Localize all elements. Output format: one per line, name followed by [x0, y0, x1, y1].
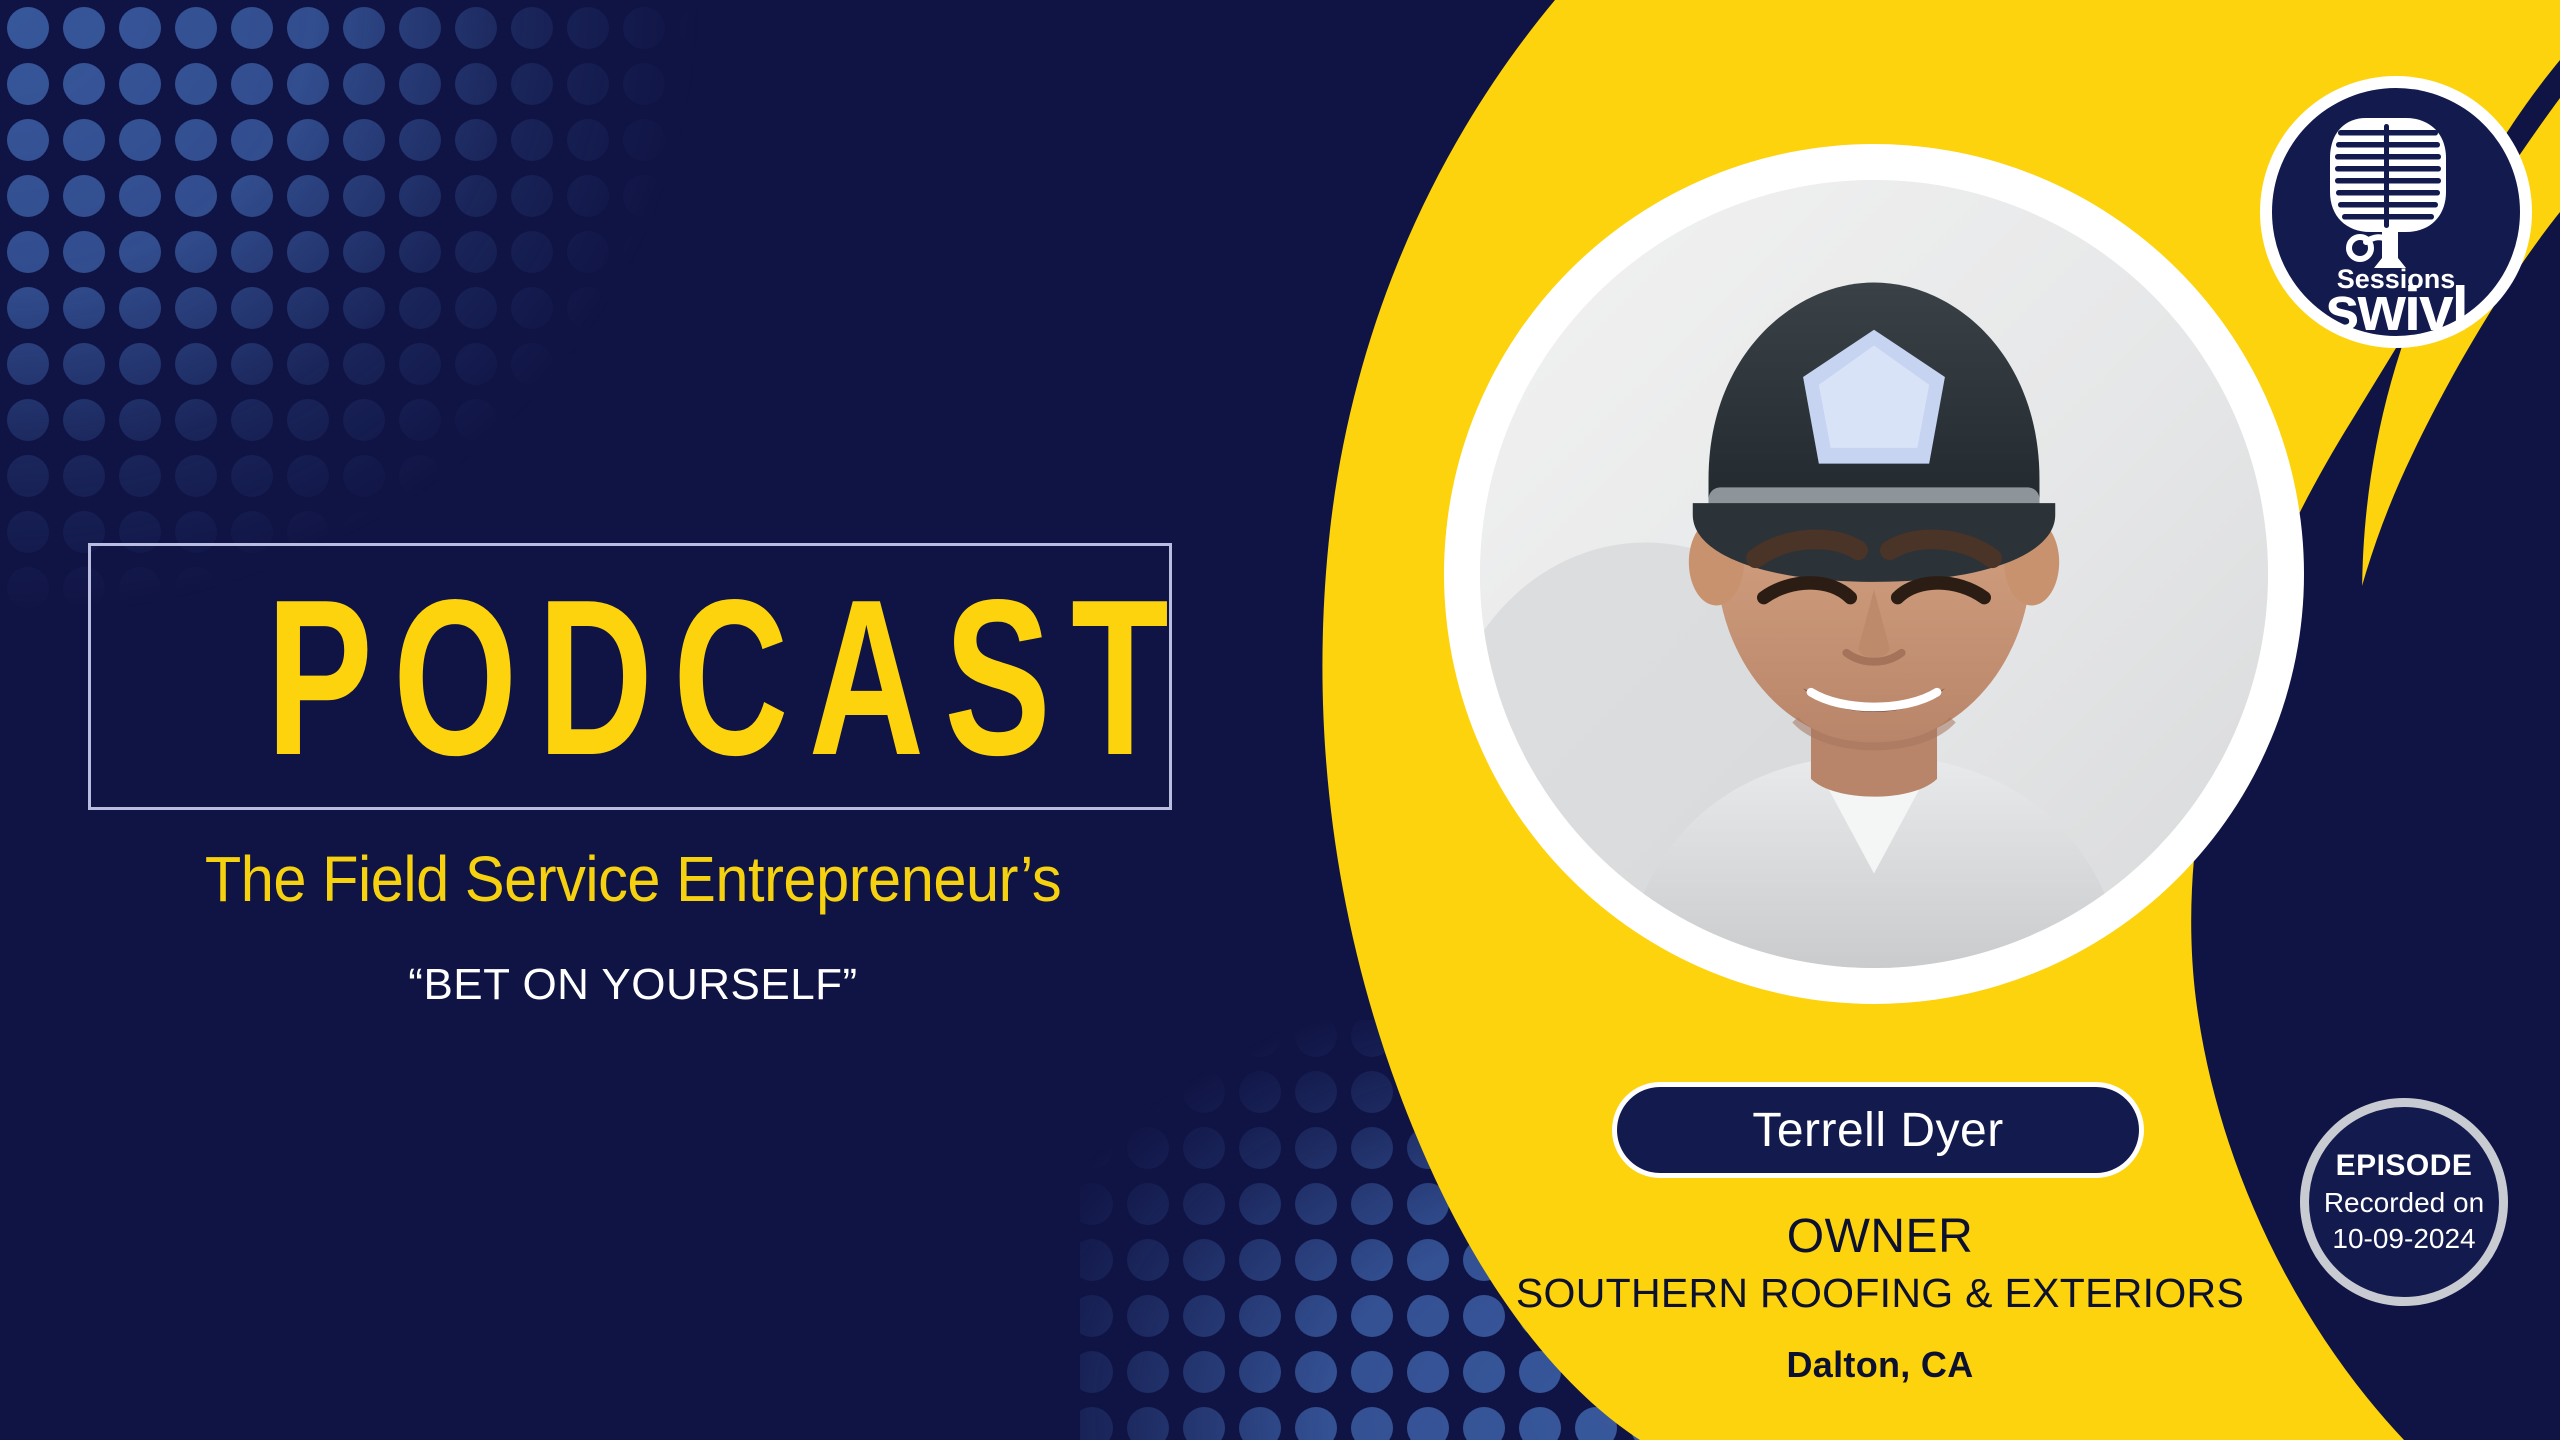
swivl-logo-svg: Sessions swivl — [2256, 72, 2536, 352]
guest-name-badge: Terrell Dyer — [1612, 1082, 2144, 1178]
guest-company: SOUTHERN ROOFING & EXTERIORS — [1420, 1266, 2340, 1320]
guest-portrait-illustration — [1480, 180, 2268, 968]
guest-details: OWNER SOUTHERN ROOFING & EXTERIORS Dalto… — [1420, 1208, 2340, 1388]
episode-recorded-date: 10-09-2024 — [2332, 1221, 2475, 1257]
episode-recorded-prefix: Recorded on — [2324, 1185, 2484, 1221]
portrait-ring — [1444, 144, 2304, 1004]
episode-label: EPISODE — [2336, 1147, 2473, 1185]
episode-quote: “BET ON YOURSELF” — [88, 960, 1178, 1010]
podcast-promo-canvas: PODCAST The Field Service Entrepreneur’s… — [0, 0, 2560, 1440]
guest-portrait — [1480, 180, 2268, 968]
show-tagline: The Field Service Entrepreneur’s — [126, 842, 1140, 916]
episode-badge: EPISODE Recorded on 10-09-2024 — [2300, 1098, 2508, 1306]
swivl-wordmark: swivl — [2325, 275, 2467, 344]
guest-location: Dalton, CA — [1420, 1342, 2340, 1388]
page-title: PODCAST — [246, 558, 1018, 798]
swivl-sessions-logo: Sessions swivl — [2256, 72, 2536, 352]
guest-role: OWNER — [1420, 1208, 2340, 1266]
